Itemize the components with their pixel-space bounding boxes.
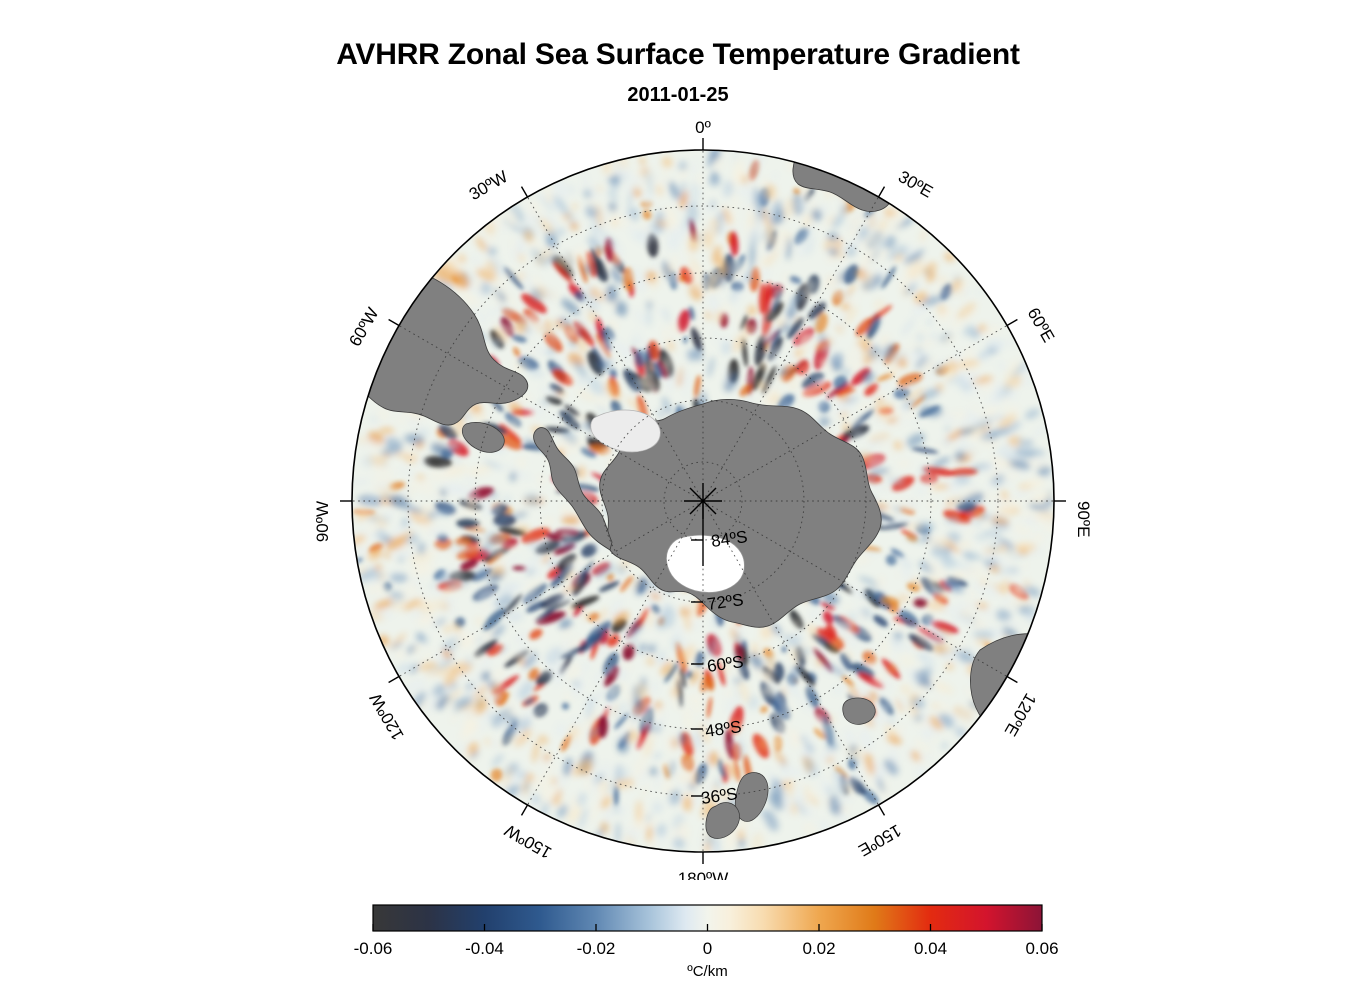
colorbar-tick-label-6: 0.04	[914, 939, 947, 958]
gradient-cell	[683, 795, 692, 812]
gradient-cell	[652, 643, 658, 650]
longitude-label-120e: 120ºE	[1001, 690, 1040, 739]
gradient-cell	[502, 495, 511, 504]
gradient-cell	[652, 258, 657, 269]
longitude-label-180: 180ºW	[678, 869, 729, 880]
colorbar-tick-label-5: 0.02	[802, 939, 835, 958]
gradient-cell	[372, 465, 392, 474]
colorbar-unit-label: ºC/km	[687, 963, 727, 980]
longitude-label-120w: 120ºW	[366, 690, 408, 743]
map-figure: 0º 30ºE 60ºE 90ºE 120ºE 150ºE 180ºW 150º…	[0, 0, 1356, 880]
colorbar-block: -0.06 -0.04 -0.02 0 0.02 0.04 0.06 ºC/km	[0, 896, 1356, 1000]
australia-landmass	[970, 634, 1092, 749]
colorbar-tick-label-2: -0.04	[465, 939, 504, 958]
colorbar-tick-label-7: 0.06	[1025, 939, 1058, 958]
longitude-label-150e: 150ºE	[855, 821, 904, 860]
tasmania-landmass	[843, 698, 876, 724]
gradient-cell	[754, 192, 764, 210]
gradient-cell	[379, 427, 394, 433]
colorbar[interactable]: -0.06 -0.04 -0.02 0 0.02 0.04 0.06 ºC/km	[0, 896, 1356, 1000]
longitude-label-0: 0º	[695, 118, 711, 137]
longitude-label-60w: 60ºW	[345, 305, 382, 350]
longitude-label-30w: 30ºW	[466, 167, 511, 204]
longitude-label-30e: 30ºE	[895, 167, 936, 202]
colorbar-tick-label-3: -0.02	[577, 939, 616, 958]
longitude-label-150w: 150ºW	[502, 821, 555, 863]
longitude-label-60e: 60ºE	[1024, 305, 1059, 346]
gradient-cell	[445, 585, 464, 593]
longitude-label-90w: 90ºW	[313, 501, 332, 542]
colorbar-tick-label-1: -0.06	[354, 939, 393, 958]
longitude-label-90e: 90ºE	[1074, 501, 1093, 537]
colorbar-tick-label-4: 0	[703, 939, 712, 958]
polar-stereographic-map[interactable]: 0º 30ºE 60ºE 90ºE 120ºE 150ºE 180ºW 150º…	[0, 0, 1356, 880]
